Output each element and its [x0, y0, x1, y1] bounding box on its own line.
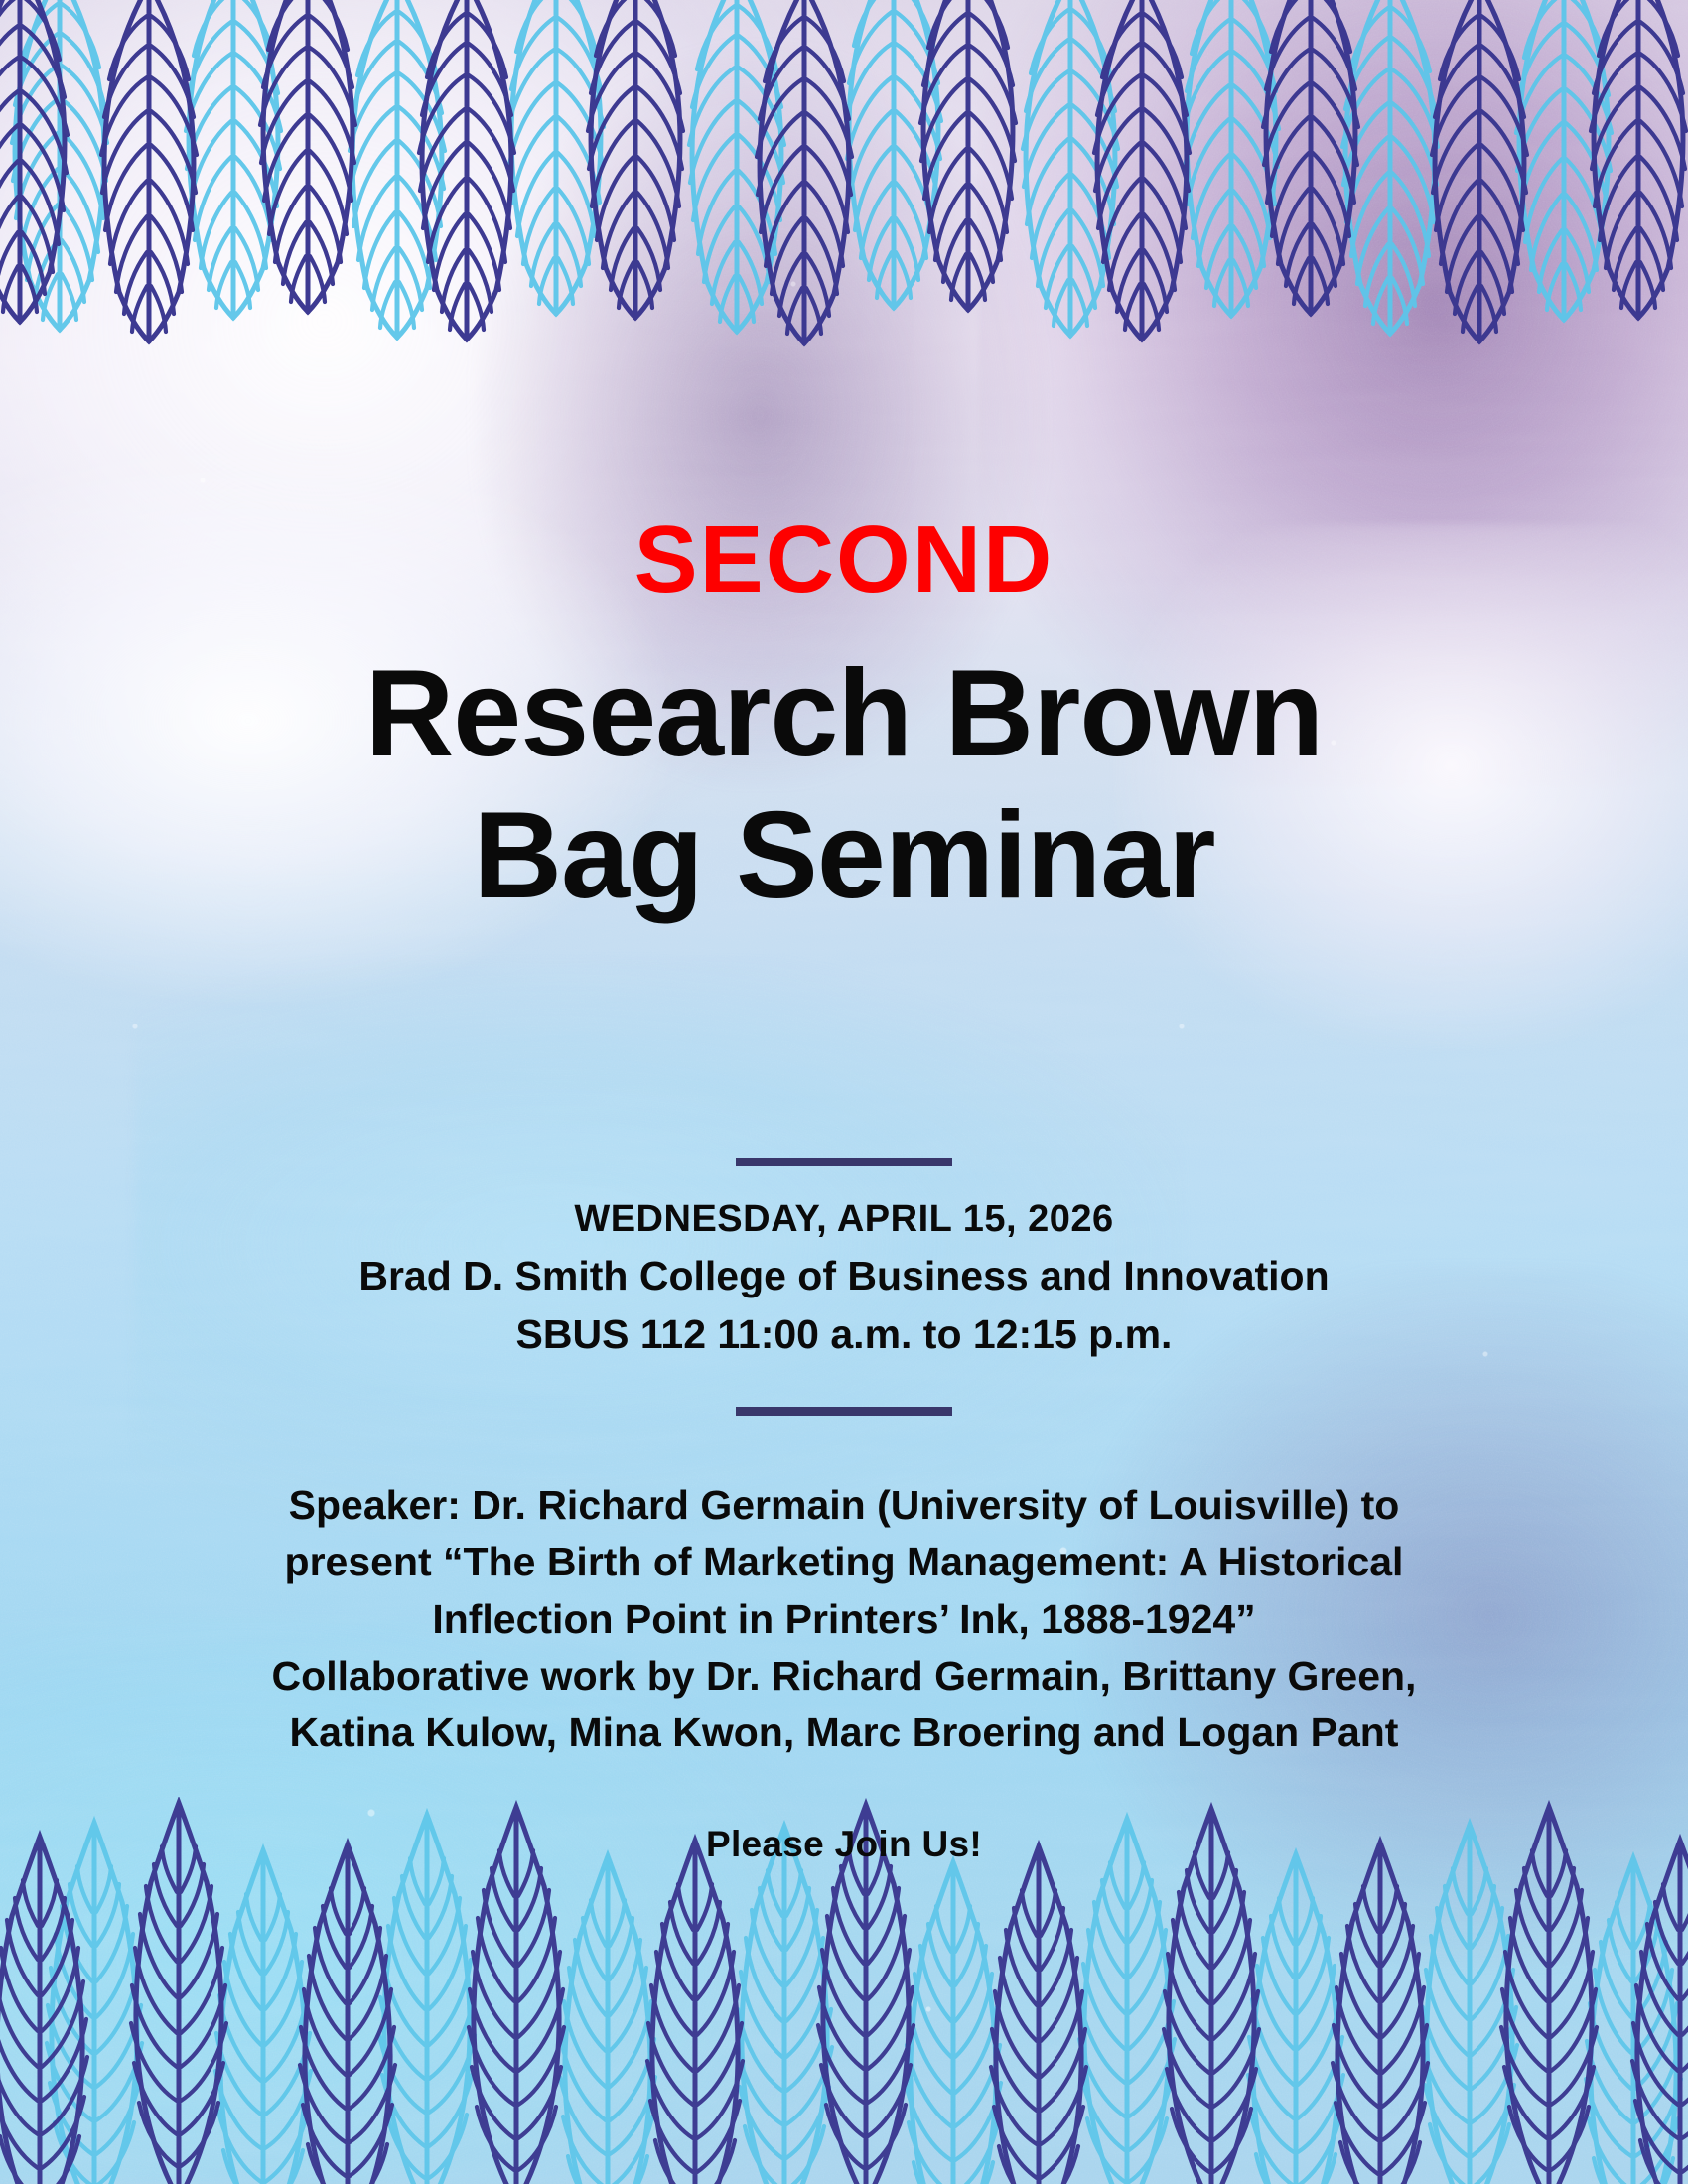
kicker-second: SECOND — [634, 512, 1055, 608]
body-line-1: Speaker: Dr. Richard Germain (University… — [218, 1477, 1470, 1534]
poster-canvas: SECOND Research Brown Bag Seminar WEDNES… — [0, 0, 1688, 2184]
headline-line-1: Research Brown — [365, 643, 1324, 785]
body-line-5: Katina Kulow, Mina Kwon, Marc Broering a… — [218, 1705, 1470, 1761]
divider-rule-bottom — [736, 1407, 952, 1416]
body-line-3: Inflection Point in Printers’ Ink, 1888-… — [218, 1591, 1470, 1648]
body-line-2: present “The Birth of Marketing Manageme… — [218, 1534, 1470, 1590]
speaker-abstract-block: Speaker: Dr. Richard Germain (University… — [218, 1477, 1470, 1762]
page-title: Research Brown Bag Seminar — [365, 643, 1324, 926]
body-line-4: Collaborative work by Dr. Richard Germai… — [218, 1648, 1470, 1705]
divider-rule-top — [736, 1158, 952, 1166]
poster-content: SECOND Research Brown Bag Seminar WEDNES… — [0, 0, 1688, 2184]
event-venue: Brad D. Smith College of Business and In… — [358, 1247, 1329, 1304]
event-room-time: SBUS 112 11:00 a.m. to 12:15 p.m. — [358, 1305, 1329, 1363]
event-details: WEDNESDAY, APRIL 15, 2026 Brad D. Smith … — [358, 1192, 1329, 1363]
headline-line-2: Bag Seminar — [365, 785, 1324, 927]
call-to-action: Please Join Us! — [706, 1824, 982, 1865]
event-date: WEDNESDAY, APRIL 15, 2026 — [358, 1192, 1329, 1247]
